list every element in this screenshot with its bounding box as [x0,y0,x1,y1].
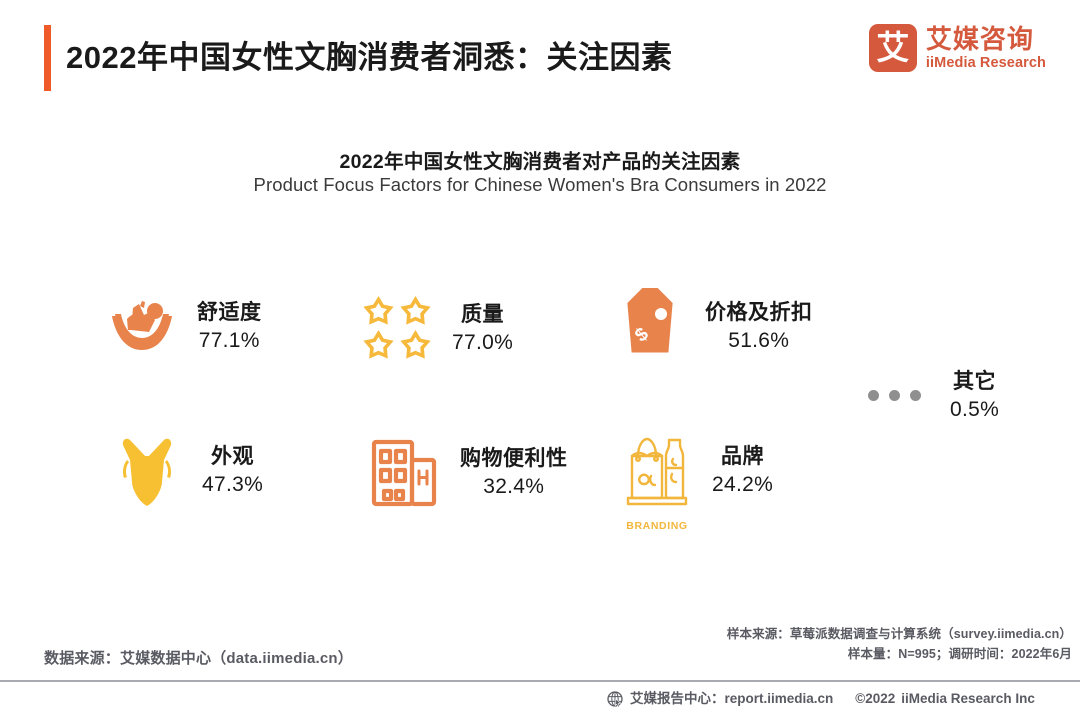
factor-text-quality: 质量 77.0% [452,301,513,356]
factor-item-shopping-convenience: 购物便利性 32.4% [366,434,568,512]
factor-label: 质量 [452,301,513,329]
page-header: 2022年中国女性文胸消费者洞悉：关注因素 艾 艾媒咨询 iiMedia Res… [0,0,1080,112]
factor-text-shopping-convenience: 购物便利性 32.4% [460,445,568,500]
copyright-label: ©2022 [855,689,895,709]
brand-name-en: iiMedia Research [926,56,1046,71]
footer-report-line: 艾媒报告中心：report.iimedia.cn ©2022 iiMedia R… [583,684,1080,714]
title-accent-bar [44,25,51,91]
company-label: iiMedia Research Inc [901,689,1035,709]
brand-wordmark: 艾媒咨询 iiMedia Research [926,26,1046,71]
report-center-label: 艾媒报告中心：report.iimedia.cn [630,689,833,709]
sample-source-label: 样本来源：草莓派数据调查与计算系统（survey.iimedia.cn） [727,624,1072,644]
factor-item-comfort: 舒适度 77.1% [103,288,262,366]
factor-text-other: 其它 0.5% [950,368,999,423]
logo-glyph: 艾 [876,31,909,64]
swimsuit-icon [108,432,186,510]
factor-label: 购物便利性 [460,445,568,473]
dot-3 [910,390,921,401]
iimedia-logo-icon: 艾 [869,24,917,72]
chart-title-cn: 2022年中国女性文胸消费者对产品的关注因素 [0,145,1080,174]
factor-value: 77.1% [197,327,262,355]
dot-2 [889,390,900,401]
factor-value: 32.4% [460,473,568,501]
factor-value: 47.3% [202,471,263,499]
data-source-label: 数据来源：艾媒数据中心（data.iimedia.cn） [44,647,353,668]
factor-label: 价格及折扣 [705,299,813,327]
factor-value: 51.6% [705,327,813,355]
globe-cursor-icon [607,691,624,708]
factor-item-brand: BRANDING 品牌 24.2% [618,432,773,510]
factor-value: 77.0% [452,329,513,357]
brand-name-cn: 艾媒咨询 [926,26,1046,52]
factor-label: 舒适度 [197,299,262,327]
factor-text-price-discount: 价格及折扣 51.6% [705,299,813,354]
factor-label: 品牌 [712,443,773,471]
shopping-mall-icon [366,434,444,512]
factor-item-appearance: 外观 47.3% [108,432,263,510]
chart-title-en: Product Focus Factors for Chinese Women'… [0,174,1080,196]
factor-value: 0.5% [950,396,999,424]
four-stars-icon [358,290,436,368]
factor-item-quality: 质量 77.0% [358,290,513,368]
sample-info: 样本来源：草莓派数据调查与计算系统（survey.iimedia.cn） 样本量… [727,624,1072,664]
price-tag-icon: $ [611,288,689,366]
factor-value: 24.2% [712,471,773,499]
factor-item-other: 其它 0.5% [852,368,999,423]
footer-divider-left [0,680,583,682]
sample-size-label: 样本量：N=995；调研时间：2022年6月 [727,644,1072,664]
brand-logo: 艾 艾媒咨询 iiMedia Research [869,24,1046,72]
factor-text-comfort: 舒适度 77.1% [197,299,262,354]
factor-text-brand: 品牌 24.2% [712,443,773,498]
branding-caption: BRANDING [618,520,696,532]
dot-1 [868,390,879,401]
branding-bag-icon: BRANDING [618,432,696,510]
factor-text-appearance: 外观 47.3% [202,443,263,498]
three-dots-icon [852,376,936,416]
footer-divider-right [583,680,1080,682]
page-title: 2022年中国女性文胸消费者洞悉：关注因素 [66,30,672,86]
factor-item-price-discount: $ 价格及折扣 51.6% [611,288,813,366]
comfort-hammock-icon [103,288,181,366]
factor-label: 其它 [950,368,999,396]
page-footer: 数据来源：艾媒数据中心（data.iimedia.cn） 样本来源：草莓派数据调… [0,620,1080,702]
factor-label: 外观 [202,443,263,471]
